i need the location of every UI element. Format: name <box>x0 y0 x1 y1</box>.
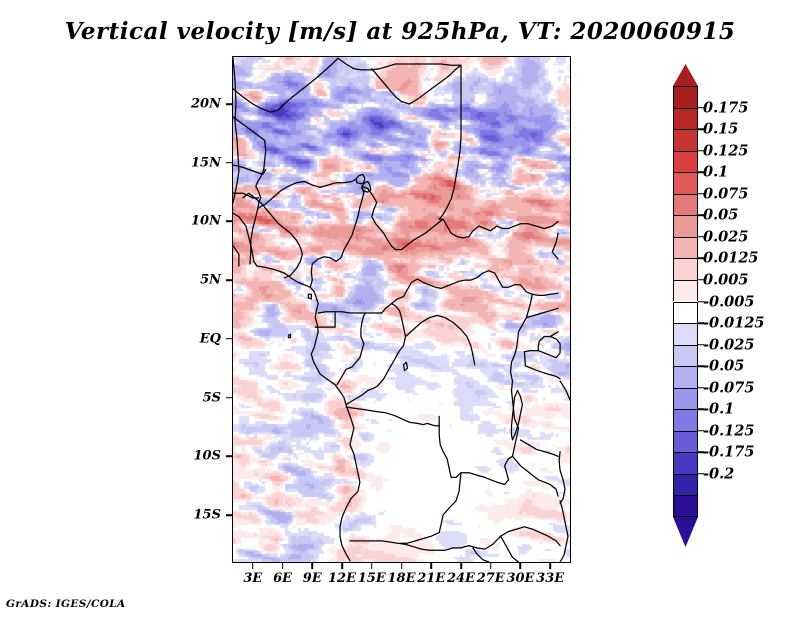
border-line <box>443 219 491 238</box>
colorbar-tick-label: 0.1 <box>703 164 728 181</box>
border-line <box>491 221 558 230</box>
y-tick-mark <box>226 103 233 105</box>
border-line <box>289 334 291 338</box>
colorbar-tick-mark <box>698 107 704 109</box>
border-line <box>524 352 560 379</box>
colorbar <box>673 86 698 517</box>
colorbar-tick-mark <box>698 387 704 389</box>
border-line <box>406 315 475 364</box>
y-tick-label: EQ <box>200 331 221 346</box>
colorbar-segment <box>673 388 698 410</box>
x-tick-mark <box>401 562 403 569</box>
colorbar-tick-mark <box>698 128 704 130</box>
x-tick-label: 30E <box>506 571 534 586</box>
colorbar-segment <box>673 280 698 302</box>
colorbar-tick-mark <box>698 473 704 475</box>
border-line <box>526 308 558 317</box>
colorbar-tick-label: 0.0125 <box>703 250 759 267</box>
border-line <box>560 381 570 400</box>
colorbar-segment <box>673 129 698 151</box>
colorbar-segment <box>673 474 698 496</box>
x-tick-mark <box>252 562 254 569</box>
x-tick-mark <box>341 562 343 569</box>
colorbar-segment <box>673 215 698 237</box>
border-line <box>511 294 533 456</box>
colorbar-tick-label: 0.005 <box>703 271 748 288</box>
colorbar-tick-label: -0.175 <box>703 444 754 461</box>
x-tick-label: 15E <box>358 571 386 586</box>
x-tick-mark <box>520 562 522 569</box>
x-tick-label: 24E <box>447 571 475 586</box>
border-line <box>439 65 461 219</box>
border-line <box>538 337 560 358</box>
colorbar-segment <box>673 452 698 474</box>
y-tick-label: 15S <box>194 508 221 523</box>
colorbar-tick-label: 0.175 <box>703 99 748 116</box>
x-tick-mark <box>490 562 492 569</box>
colorbar-tick-label: -0.005 <box>703 293 754 310</box>
colorbar-segment <box>673 86 698 108</box>
border-line <box>308 294 311 299</box>
y-tick-mark <box>226 279 233 281</box>
triangle-down-icon <box>673 517 698 547</box>
colorbar-tick-label: 0.15 <box>703 121 738 138</box>
x-tick-mark <box>549 562 551 569</box>
x-tick-label: 3E <box>243 571 262 586</box>
triangle-up-icon <box>673 64 698 86</box>
x-tick-mark <box>311 562 313 569</box>
border-line <box>250 209 258 264</box>
border-line <box>404 362 408 370</box>
y-tick-mark <box>226 397 233 399</box>
y-tick-label: 10S <box>194 449 221 464</box>
border-line <box>233 210 239 266</box>
border-line <box>520 440 558 456</box>
colorbar-segment <box>673 345 698 367</box>
y-tick-mark <box>226 456 233 458</box>
border-line <box>382 271 558 313</box>
x-tick-label: 12E <box>328 571 356 586</box>
colorbar-segment <box>673 409 698 431</box>
border-line <box>233 165 266 174</box>
border-line <box>400 473 462 544</box>
x-tick-label: 9E <box>303 571 322 586</box>
x-tick-label: 33E <box>536 571 564 586</box>
colorbar-segment <box>673 302 698 324</box>
colorbar-tick-mark <box>698 344 704 346</box>
colorbar-tick-mark <box>698 409 704 411</box>
colorbar-segment <box>673 323 698 345</box>
colorbar-tick-mark <box>698 171 704 173</box>
border-line <box>560 501 568 562</box>
border-line <box>559 452 565 504</box>
colorbar-tick-mark <box>698 236 704 238</box>
colorbar-tick-mark <box>698 452 704 454</box>
y-tick-label: 20N <box>191 96 221 111</box>
colorbar-tick-label: -0.025 <box>703 336 754 353</box>
footer-credit: GrADS: IGES/COLA <box>6 598 126 610</box>
border-line <box>362 186 443 249</box>
page-title: Vertical velocity [m/s] at 925hPa, VT: 2… <box>0 18 800 45</box>
colorbar-segment <box>673 366 698 388</box>
colorbar-segment <box>673 258 698 280</box>
colorbar-segment <box>673 431 698 453</box>
colorbar-tick-mark <box>698 215 704 217</box>
x-tick-mark <box>282 562 284 569</box>
colorbar-tick-mark <box>698 430 704 432</box>
x-tick-mark <box>430 562 432 569</box>
border-line <box>469 527 560 549</box>
x-tick-mark <box>460 562 462 569</box>
border-line <box>552 233 558 259</box>
border-line <box>233 58 239 202</box>
x-tick-label: 18E <box>388 571 416 586</box>
x-tick-label: 21E <box>417 571 445 586</box>
colorbar-tick-label: -0.125 <box>703 422 754 439</box>
colorbar-tick-label: 0.125 <box>703 142 748 159</box>
colorbar-segment <box>673 194 698 216</box>
border-line <box>501 536 519 562</box>
colorbar-tick-label: -0.0125 <box>703 315 765 332</box>
colorbar-tick-mark <box>698 301 704 303</box>
border-line <box>346 407 461 477</box>
colorbar-tick-label: 0.075 <box>703 185 748 202</box>
border-line <box>337 313 366 385</box>
border-line <box>233 213 360 561</box>
border-line <box>356 174 365 183</box>
border-line <box>461 456 558 496</box>
y-tick-label: 5N <box>200 273 221 288</box>
colorbar-tick-label: -0.1 <box>703 401 734 418</box>
colorbar-segment <box>673 172 698 194</box>
map-plot-area <box>233 57 570 562</box>
colorbar-tick-mark <box>698 193 704 195</box>
colorbar-segment <box>673 108 698 130</box>
country-borders-overlay <box>233 57 570 562</box>
border-line <box>346 304 406 405</box>
border-line <box>258 179 356 208</box>
colorbar-tick-mark <box>698 258 704 260</box>
colorbar-tick-label: -0.075 <box>703 379 754 396</box>
border-line <box>318 312 382 313</box>
x-tick-label: 27E <box>477 571 505 586</box>
colorbar-tick-label: 0.05 <box>703 207 738 224</box>
border-line <box>310 186 364 287</box>
y-tick-mark <box>226 162 233 164</box>
colorbar-tick-mark <box>698 279 704 281</box>
colorbar-segment <box>673 237 698 259</box>
colorbar-tick-label: 0.025 <box>703 228 748 245</box>
x-tick-label: 6E <box>273 571 292 586</box>
y-tick-label: 15N <box>191 155 221 170</box>
border-line <box>315 313 335 327</box>
colorbar-tick-mark <box>698 365 704 367</box>
colorbar-tick-label: -0.2 <box>703 465 734 482</box>
y-tick-mark <box>226 221 233 223</box>
x-tick-mark <box>371 562 373 569</box>
colorbar-tick-label: -0.05 <box>703 358 744 375</box>
border-line <box>338 58 461 70</box>
border-line <box>550 332 558 337</box>
border-line <box>233 58 338 112</box>
border-line <box>524 351 538 352</box>
y-tick-mark <box>226 514 233 516</box>
border-line <box>473 548 489 562</box>
colorbar-segment <box>673 151 698 173</box>
y-tick-mark <box>226 338 233 340</box>
border-line <box>372 65 461 104</box>
colorbar-tick-mark <box>698 322 704 324</box>
y-tick-label: 5S <box>203 390 221 405</box>
colorbar-tick-mark <box>698 150 704 152</box>
y-tick-label: 10N <box>191 214 221 229</box>
colorbar-segment <box>673 495 698 517</box>
